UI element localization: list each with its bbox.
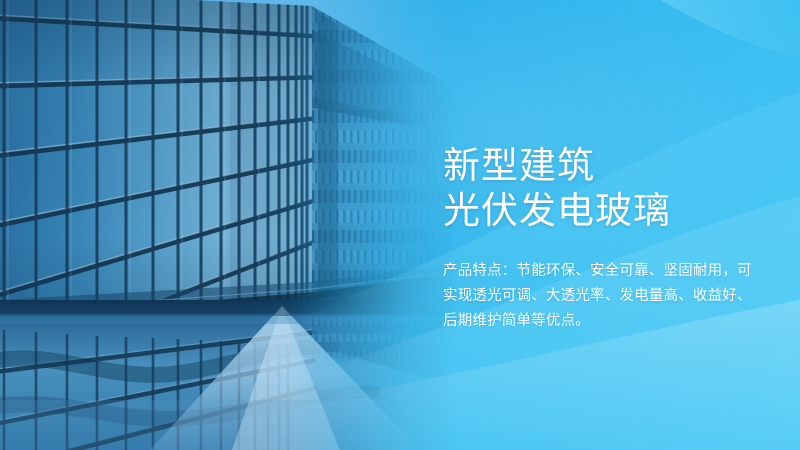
building-photo-illustration	[0, 0, 470, 450]
promo-banner: 新型建筑 光伏发电玻璃 产品特点：节能环保、安全可靠、坚固耐用，可实现透光可调、…	[0, 0, 800, 450]
wave-top-right	[660, 0, 800, 58]
headline-line-2: 光伏发电玻璃	[443, 188, 773, 233]
product-features-paragraph: 产品特点：节能环保、安全可靠、坚固耐用，可实现透光可调、大透光率、发电量高、收益…	[443, 259, 763, 334]
page-title: 新型建筑 光伏发电玻璃	[443, 143, 773, 233]
copy-block: 新型建筑 光伏发电玻璃 产品特点：节能环保、安全可靠、坚固耐用，可实现透光可调、…	[443, 118, 773, 348]
building-photo	[0, 0, 470, 450]
headline-line-1: 新型建筑	[443, 143, 773, 188]
